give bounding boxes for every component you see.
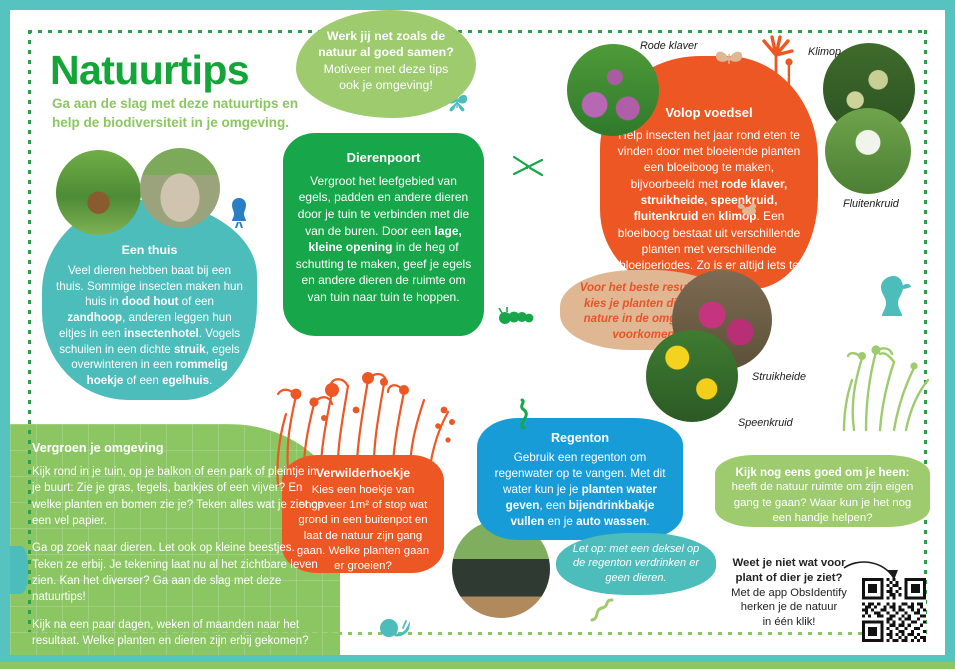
tip-dierenpoort: Dierenpoort Vergroot het leefgebied van … — [283, 133, 484, 336]
tip-een-thuis: Een thuis Veel dieren hebben baat bij ee… — [42, 200, 257, 400]
label-rode-klaver: Rode klaver — [640, 40, 698, 52]
photo-insectenhotel — [56, 150, 141, 235]
moth-icon — [712, 45, 746, 69]
frame-left-edge — [0, 0, 10, 669]
bird-flying-icon — [872, 272, 912, 318]
vergroen-paragraph-2: Ga op zoek naar dieren. Let ook op klein… — [32, 540, 324, 605]
dragonfly-icon — [508, 152, 546, 182]
closing-question-body: heeft de natuur ruimte om zijn eigen gan… — [727, 480, 918, 525]
bird-icon — [228, 196, 250, 228]
label-klimop: Klimop — [808, 46, 841, 58]
intro-bubble-line3: Motiveer met deze tips — [312, 61, 460, 77]
photo-fluitenkruid — [825, 108, 911, 194]
page-subtitle: Ga aan de slag met deze natuurtips en he… — [52, 95, 322, 132]
obsidentify-text: Weet je niet wat voor plant of dier je z… — [724, 556, 854, 629]
closing-question-bubble: Kijk nog eens goed om je heen: heeft de … — [715, 455, 930, 527]
dotted-border-top — [28, 30, 928, 33]
frame-bottom-green-edge — [0, 662, 955, 669]
worm-icon — [512, 398, 536, 430]
tip-een-thuis-title: Een thuis — [56, 242, 243, 259]
page-title: Natuurtips — [50, 50, 249, 91]
qr-code-icon[interactable] — [862, 578, 926, 642]
note-deksel-text: Let op: met een deksel op de regenton ve… — [566, 542, 706, 585]
dotted-border-left — [28, 30, 31, 636]
photo-rode-klaver — [567, 44, 659, 136]
vergroen-je-omgeving-section: Vergroen je omgeving Kijk rond in je tui… — [32, 440, 324, 660]
vergroen-paragraph-3: Kijk na een paar dagen, weken of maanden… — [32, 617, 324, 650]
natuurtips-poster: Natuurtips Ga aan de slag met deze natuu… — [0, 0, 955, 669]
frame-top-edge — [0, 0, 955, 10]
tip-een-thuis-question: Wie vinden bij jou al een thuis? — [56, 399, 243, 415]
frame-right-edge — [945, 0, 955, 669]
obsidentify-body-2: herken je de natuur — [741, 601, 837, 613]
intro-bubble-line4: ook je omgeving! — [312, 77, 460, 93]
tip-een-thuis-body: Veel dieren hebben baat bij een thuis. S… — [56, 263, 243, 389]
label-fluitenkruid: Fluitenkruid — [843, 198, 899, 210]
vergroen-paragraph-1: Kijk rond in je tuin, op je balkon of ee… — [32, 464, 324, 529]
tip-volop-voedsel-body: Help insecten het jaar rond eten te vind… — [612, 127, 806, 290]
tip-regenton: Regenton Gebruik een regenton om regenwa… — [477, 418, 683, 540]
intro-speech-bubble: Werk jij net zoals de natuur al goed sam… — [296, 10, 476, 118]
intro-bubble-line1: Werk jij net zoals de — [312, 28, 460, 44]
tip-regenton-title: Regenton — [489, 430, 671, 447]
snail-icon — [376, 616, 410, 638]
obsidentify-title-1: Weet je niet wat voor — [724, 556, 854, 571]
teal-side-tab — [10, 546, 28, 594]
vergroen-title: Vergroen je omgeving — [32, 440, 324, 458]
caterpillar-icon — [498, 306, 538, 326]
label-speenkruid: Speenkruid — [738, 417, 793, 429]
flower-icon — [756, 35, 800, 93]
tip-regenton-body: Gebruik een regenton om regenwater op te… — [489, 450, 671, 530]
photo-dood-hout — [140, 148, 220, 228]
worm-icon-2 — [588, 596, 618, 624]
obsidentify-title-2: plant of dier je ziet? — [724, 571, 854, 586]
obsidentify-body-1: Met de app ObsIdentify — [731, 587, 847, 599]
obsidentify-body-3: in één klik! — [763, 616, 816, 628]
closing-question-title: Kijk nog eens goed om je heen: — [727, 465, 918, 480]
note-deksel-regenton: Let op: met een deksel op de regenton ve… — [556, 533, 716, 595]
tip-dierenpoort-title: Dierenpoort — [295, 149, 472, 167]
tip-dierenpoort-body: Vergroot het leefgebied van egels, padde… — [295, 173, 472, 305]
bee-icon — [735, 200, 761, 218]
label-struikheide: Struikheide — [752, 371, 806, 383]
grass-silhouette-right — [836, 322, 936, 432]
intro-bubble-line2: natuur al goed samen? — [312, 44, 460, 60]
photo-speenkruid — [646, 330, 738, 422]
